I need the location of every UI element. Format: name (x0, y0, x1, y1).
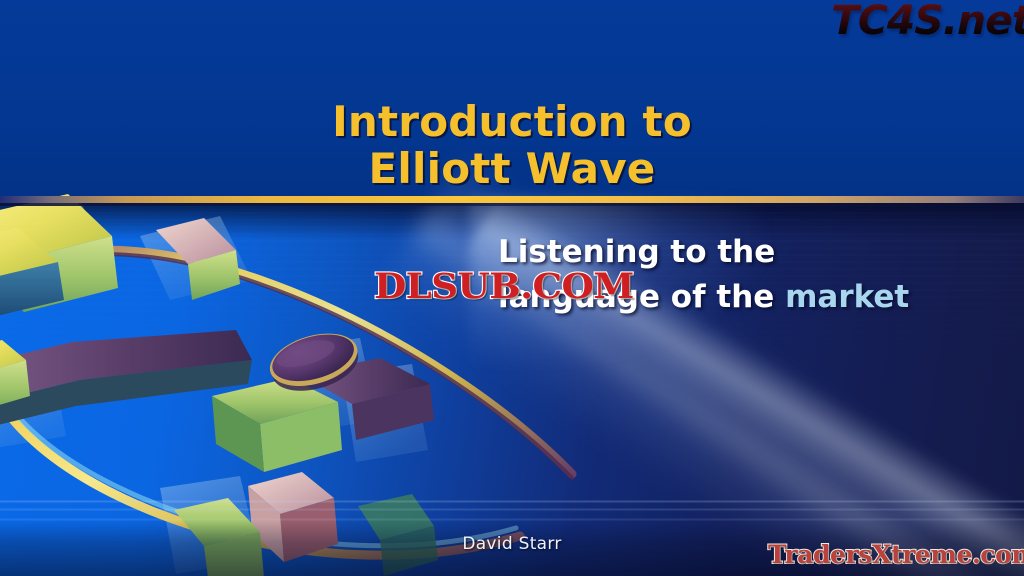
gold-divider-rule (0, 196, 1024, 203)
slide-subtitle-accent: market (785, 279, 909, 315)
tradersxtreme-watermark: TradersXtreme.com (768, 540, 1024, 569)
slide-title: Introduction to Elliott Wave (0, 98, 1024, 192)
gold-divider-underline (0, 203, 1024, 206)
dlsub-watermark: DLSUB.COM (374, 266, 634, 307)
slide-title-line-2: Elliott Wave (0, 145, 1024, 192)
slide-title-line-1: Introduction to (0, 98, 1024, 145)
tc4s-watermark: TC4S.net (831, 0, 1024, 44)
presentation-slide: Introduction to Elliott Wave Listening t… (0, 0, 1024, 576)
